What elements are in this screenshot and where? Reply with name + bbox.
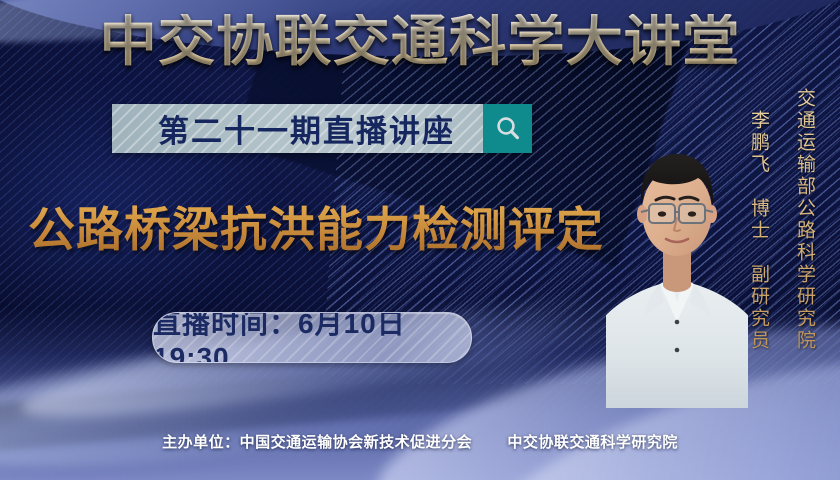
speaker-photo [606, 126, 748, 408]
footer-organizers: 主办单位：中国交通运输协会新技术促进分会 中交协联交通科学研究院 [0, 431, 840, 452]
subtitle-text: 第二十一期直播讲座 [140, 106, 455, 151]
poster-canvas: 中交协联交通科学大讲堂 第二十一期直播讲座 公路桥梁抗洪能力检测评定 直播时间：… [0, 0, 840, 480]
live-time-text: 直播时间：6月10日19:30 [153, 312, 471, 363]
footer-co-organizer: 中交协联交通科学研究院 [507, 434, 678, 451]
footer-organizer: 主办单位：中国交通运输协会新技术促进分会 [162, 434, 472, 451]
poster-header-title: 中交协联交通科学大讲堂 [0, 14, 840, 69]
subtitle-banner-panel: 第二十一期直播讲座 [112, 104, 483, 153]
search-icon [493, 114, 523, 144]
poster-main-title: 公路桥梁抗洪能力检测评定 [28, 205, 604, 254]
subtitle-banner: 第二十一期直播讲座 [112, 104, 532, 153]
speaker-organization: 交通运输部公路科学研究院 [791, 88, 818, 352]
speaker-name-title: 李鹏飞 博士 副研究员 [745, 110, 772, 352]
live-time-pill: 直播时间：6月10日19:30 [152, 312, 472, 363]
search-icon-box[interactable] [483, 104, 532, 153]
